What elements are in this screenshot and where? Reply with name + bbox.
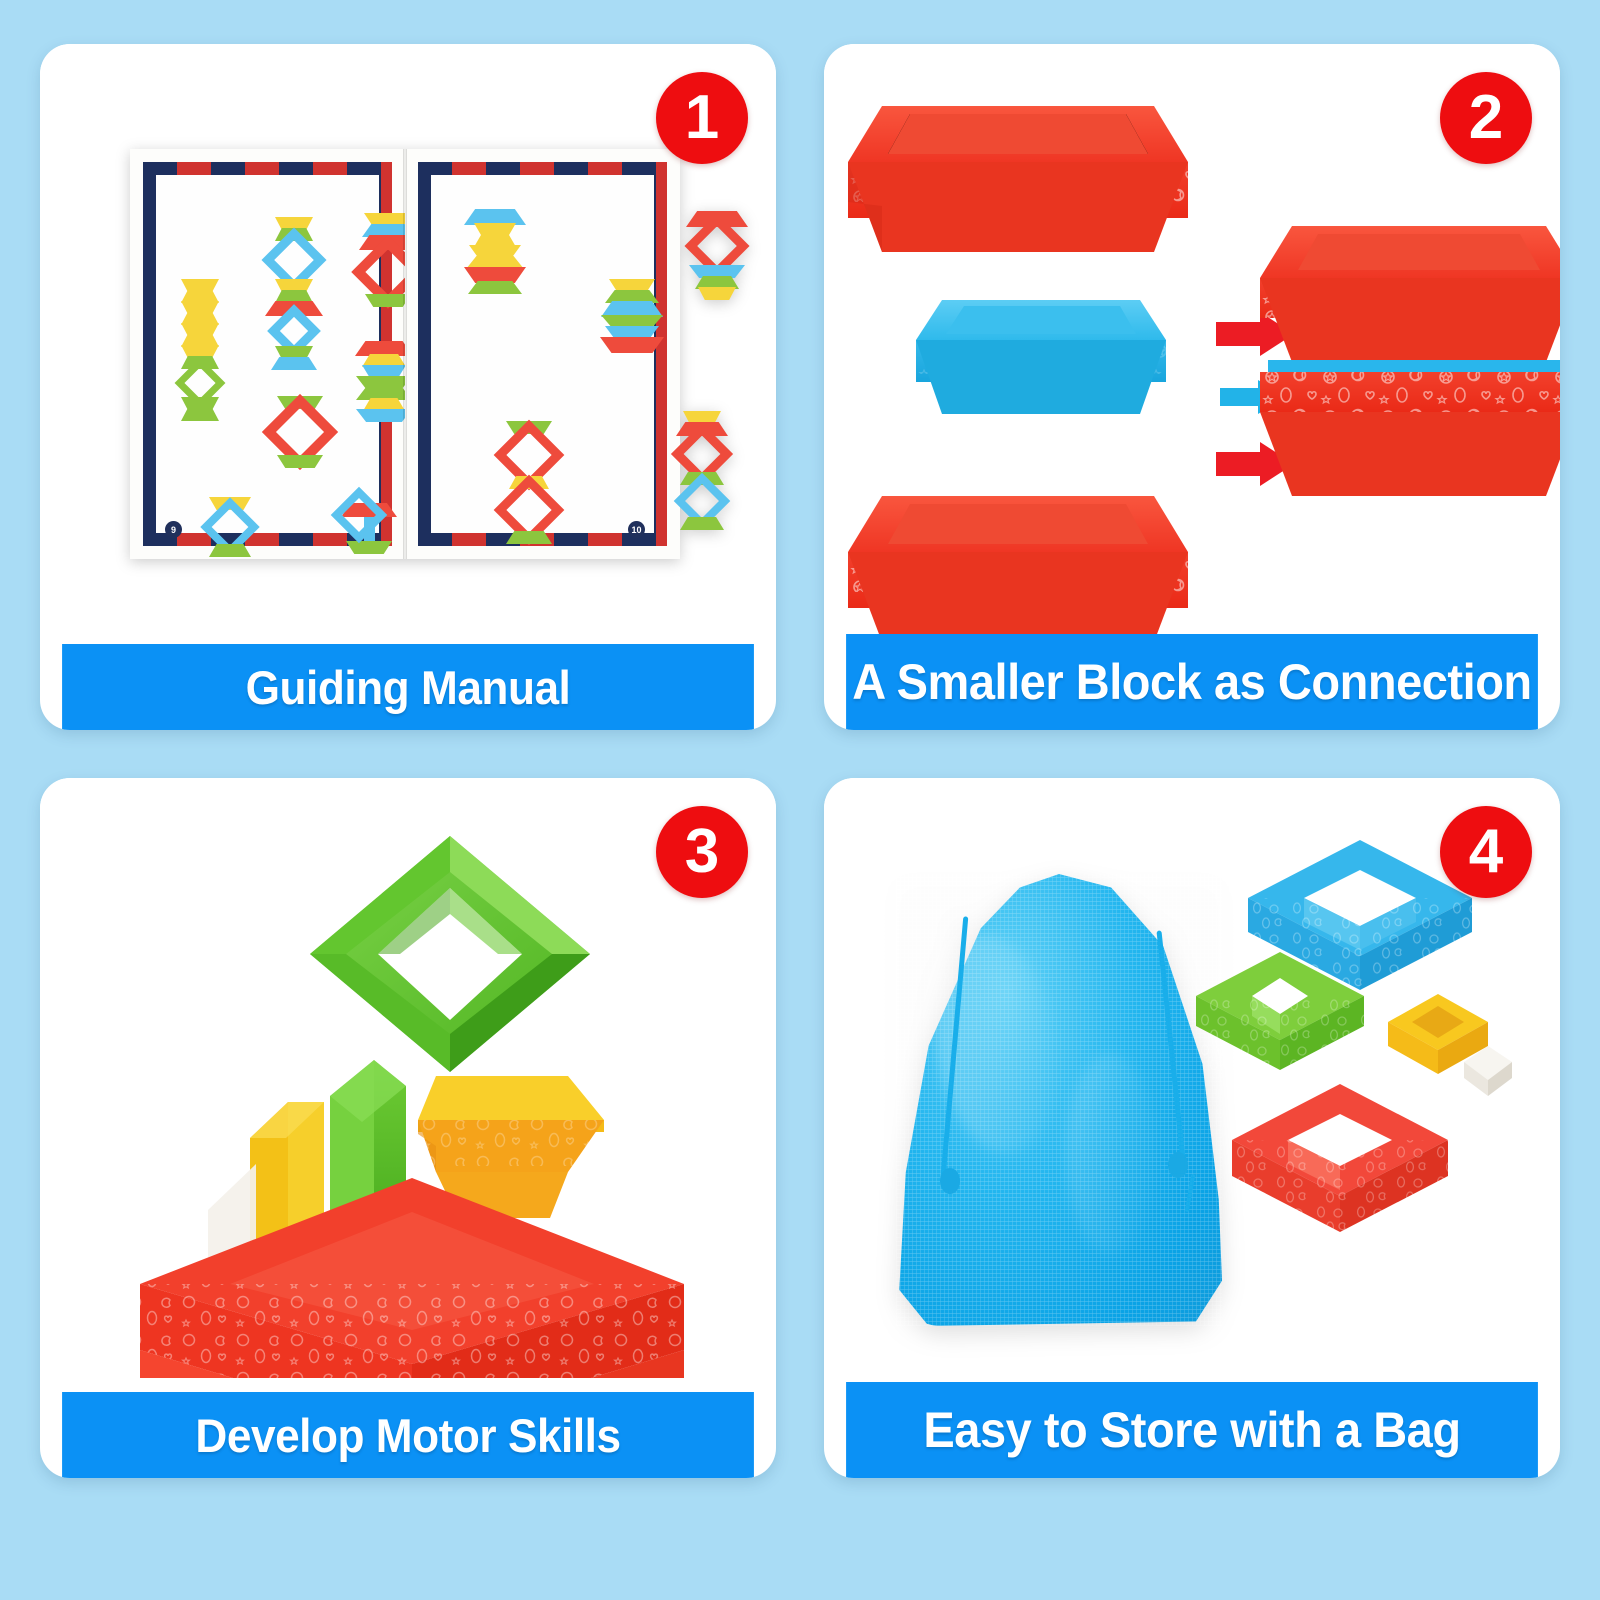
manual-figure: [273, 397, 327, 467]
manual-right-page: 10: [405, 149, 680, 559]
assembled-stack-blue-seam: [1268, 360, 1560, 372]
manual-figure: [339, 498, 379, 532]
caption-1: Guiding Manual: [62, 644, 754, 730]
feature-card-1: 1 9: [40, 44, 776, 730]
manual-figure: [600, 280, 664, 352]
manual-figure: [209, 498, 251, 556]
manual-left-page: 9: [130, 149, 405, 559]
bag-drawstring-knot-right: [1168, 1152, 1188, 1178]
assembled-stack-bottom-block: [1260, 372, 1560, 496]
step-badge-2: 2: [1440, 72, 1532, 164]
manual-figure: [504, 422, 554, 543]
caption-2: A Smaller Block as Connection: [846, 634, 1538, 730]
page-number-right: 10: [628, 521, 645, 538]
page-number-left: 9: [165, 521, 182, 538]
drawstring-storage-bag: [896, 874, 1222, 1326]
nesting-blocks-group: [1196, 834, 1526, 1274]
caption-3: Develop Motor Skills: [62, 1392, 754, 1478]
feature-card-3: 3: [40, 778, 776, 1478]
step-badge-1: 1: [656, 72, 748, 164]
blue-connector-block: [916, 300, 1166, 414]
red-block-top: [848, 106, 1188, 252]
assembled-stack-top-block: [1260, 226, 1560, 362]
step-badge-4: 4: [1440, 806, 1532, 898]
manual-figure: [686, 212, 748, 299]
step-badge-3: 3: [656, 806, 748, 898]
red-square-frame-block: [1232, 1084, 1448, 1232]
panel-4-image: 4: [824, 778, 1560, 1382]
manual-figure: [464, 210, 526, 293]
guiding-manual-booklet: 9: [130, 149, 680, 559]
bag-drawstring-knot-left: [940, 1168, 960, 1194]
panel-1-image: 1 9: [40, 44, 776, 644]
manual-figure: [265, 218, 323, 369]
feature-card-4: 4: [824, 778, 1560, 1478]
manual-figure: [181, 280, 219, 420]
manual-figure: [676, 412, 728, 529]
panel-2-image: 2: [824, 44, 1560, 634]
panel-3-image: 3: [40, 778, 776, 1392]
bag-highlight: [1066, 1054, 1156, 1254]
bag-fabric-texture: [896, 874, 1222, 1326]
caption-4: Easy to Store with a Bag: [846, 1382, 1538, 1478]
manual-center-gutter: [403, 149, 407, 559]
red-block-bottom: [848, 496, 1188, 634]
feature-grid: 1 9: [0, 0, 1600, 1600]
green-diamond-frame-block: [310, 836, 590, 1072]
feature-card-2: 2: [824, 44, 1560, 730]
